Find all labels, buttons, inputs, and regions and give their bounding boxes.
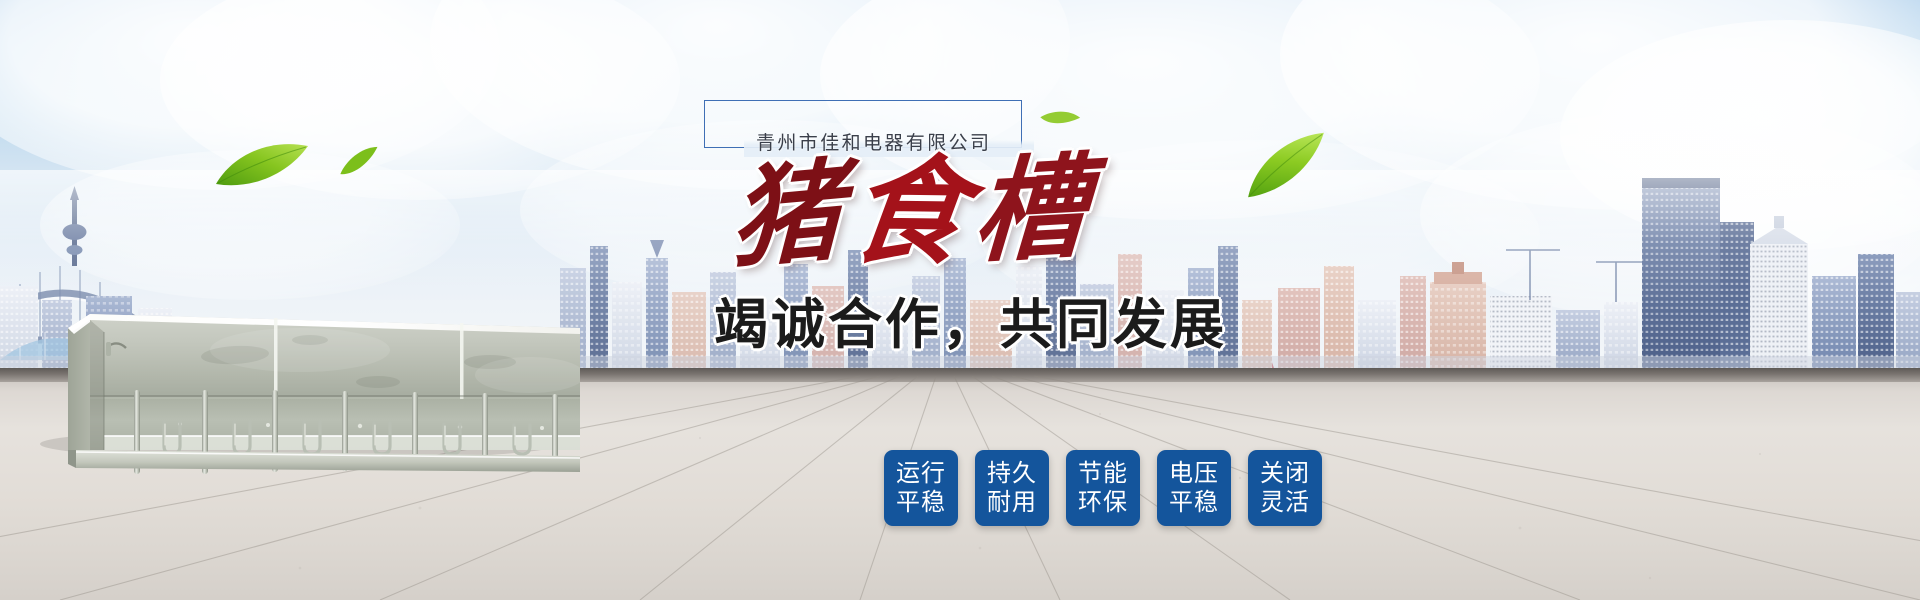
main-title-char-3: 槽 — [971, 150, 1104, 269]
feature-badge[interactable]: 持久 耐用 — [975, 450, 1049, 526]
main-title: 猪食槽 — [727, 147, 1466, 270]
product-image-pig-feeding-trough — [60, 150, 580, 480]
banner-copy-block: 青州市佳和电器有限公司 猪食槽 竭诚合作，共同发展 — [700, 100, 1460, 359]
feature-badge-list: 运行 平稳 持久 耐用 节能 环保 电压 平稳 关闭 灵活 — [884, 450, 1322, 526]
badge-line-1: 持久 — [987, 459, 1037, 488]
sub-title: 竭诚合作，共同发展 — [714, 280, 1460, 359]
badge-line-1: 运行 — [896, 459, 946, 488]
feature-badge[interactable]: 节能 环保 — [1066, 450, 1140, 526]
badge-line-2: 灵活 — [1260, 488, 1310, 517]
feature-badge[interactable]: 电压 平稳 — [1157, 450, 1231, 526]
main-title-char-2: 食 — [843, 153, 988, 271]
badge-line-2: 耐用 — [987, 488, 1037, 517]
badge-line-1: 关闭 — [1260, 459, 1310, 488]
badge-line-1: 节能 — [1078, 459, 1128, 488]
badge-line-1: 电压 — [1169, 459, 1219, 488]
feature-badge[interactable]: 运行 平稳 — [884, 450, 958, 526]
badge-line-2: 平稳 — [896, 488, 946, 517]
badge-line-2: 环保 — [1078, 488, 1128, 517]
feature-badge[interactable]: 关闭 灵活 — [1248, 450, 1322, 526]
main-title-char-1: 猪 — [730, 154, 857, 275]
promo-banner: 青州市佳和电器有限公司 猪食槽 竭诚合作，共同发展 运行 平稳 持久 耐用 节能… — [0, 0, 1920, 600]
company-name-frame: 青州市佳和电器有限公司 — [704, 100, 1022, 148]
badge-line-2: 平稳 — [1169, 488, 1219, 517]
